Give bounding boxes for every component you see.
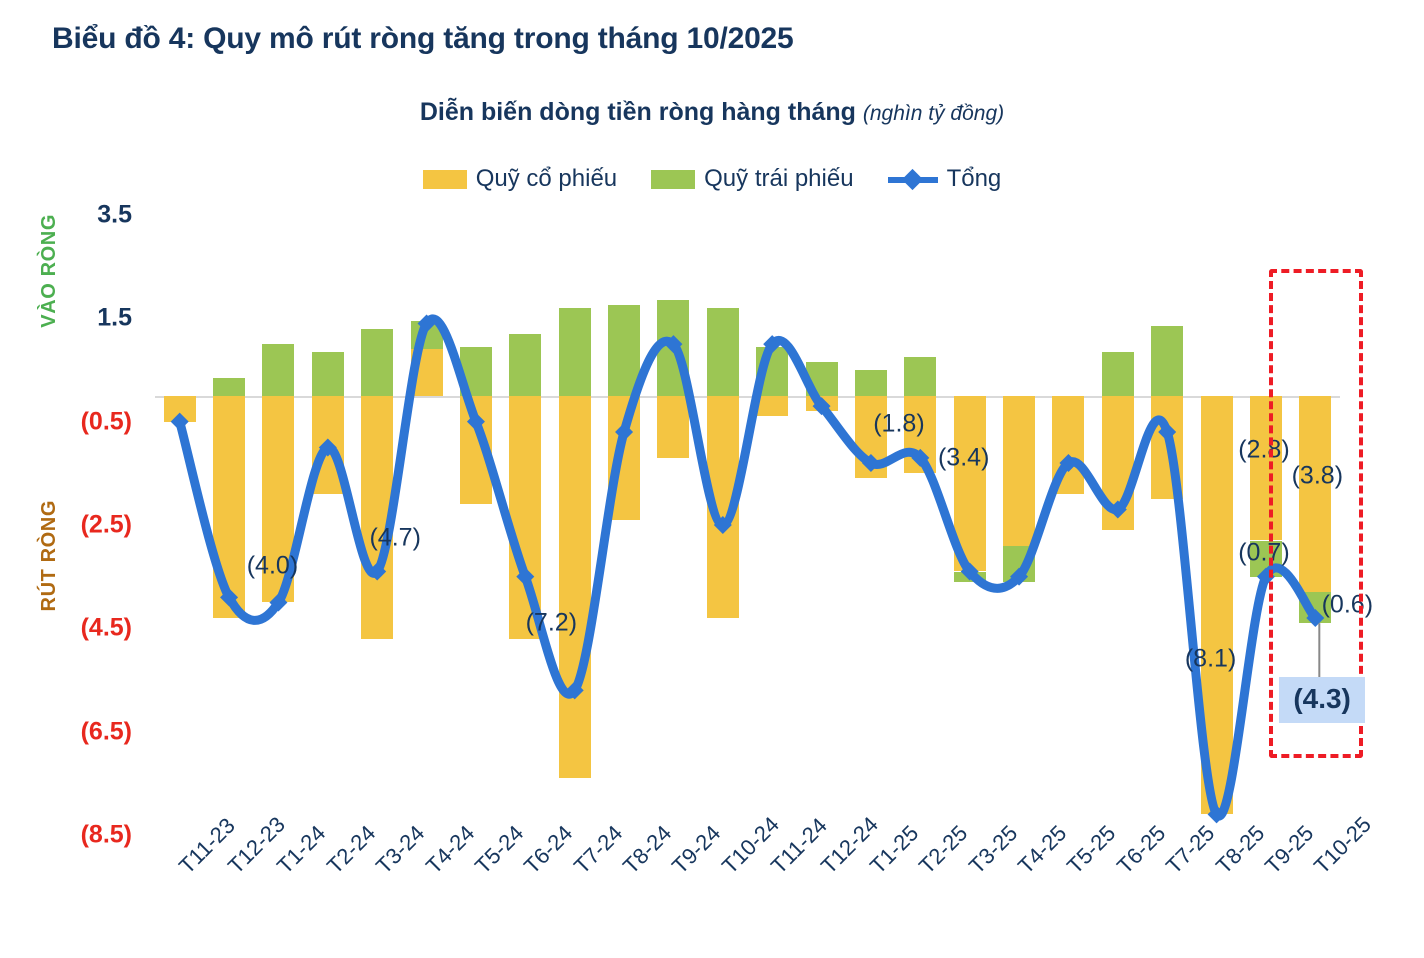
plot-area: (4.0)(4.7)(7.2)(1.8)(3.4)(8.1)(2.8)(0.7)… bbox=[155, 215, 1340, 835]
total-line-layer bbox=[155, 215, 1340, 835]
data-label: (7.2) bbox=[526, 609, 577, 638]
callout-highlight-value: (4.3) bbox=[1279, 677, 1365, 723]
data-label: (3.4) bbox=[938, 443, 989, 472]
data-label: (4.7) bbox=[369, 523, 420, 552]
chart-canvas: Biểu đồ 4: Quy mô rút ròng tăng trong th… bbox=[0, 0, 1424, 958]
data-label: (4.0) bbox=[247, 552, 298, 581]
data-label: (8.1) bbox=[1185, 645, 1236, 674]
data-label: (1.8) bbox=[873, 410, 924, 439]
total-line-path bbox=[180, 319, 1316, 816]
